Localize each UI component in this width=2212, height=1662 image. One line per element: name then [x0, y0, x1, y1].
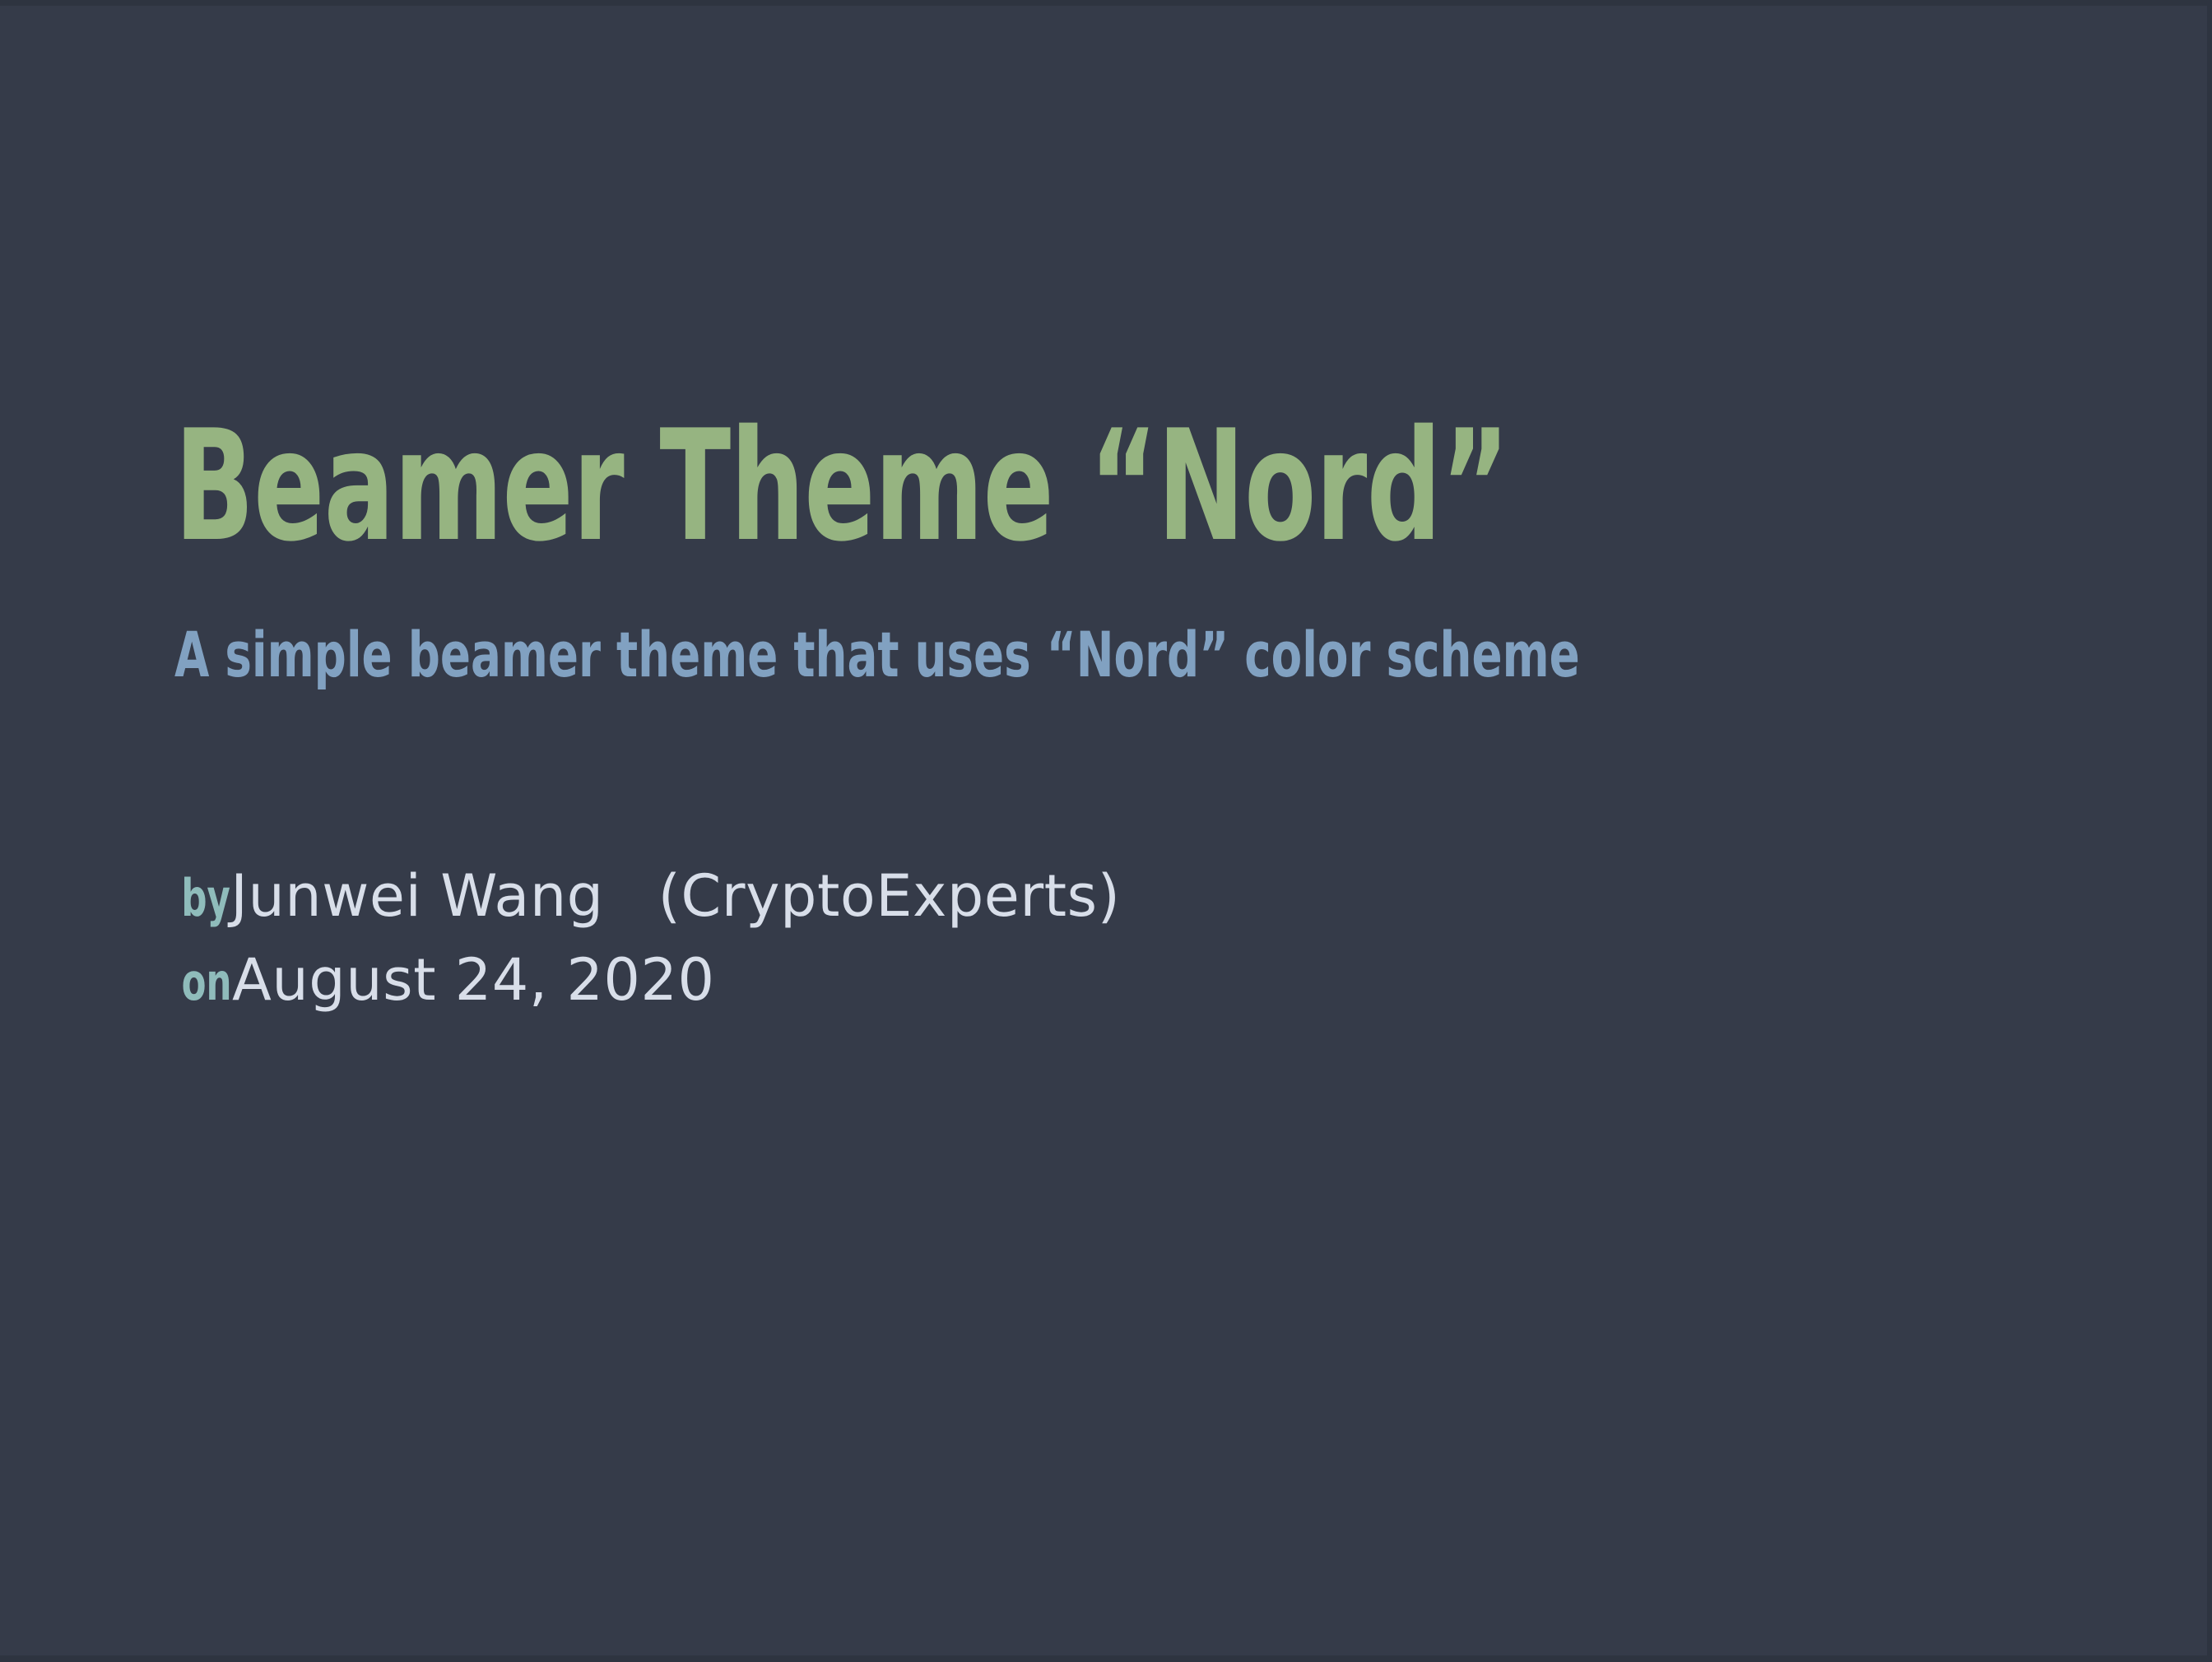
slide-right-border: [2207, 0, 2212, 1662]
slide-title: Beamer Theme “Nord”: [174, 410, 1509, 563]
author-name: Junwei Wang: [230, 862, 603, 930]
author-keyword: by: [181, 857, 230, 940]
slide-top-border: [0, 0, 2212, 6]
date-value: August 24, 2020: [232, 946, 714, 1014]
title-slide: Beamer Theme “Nord” A simple beamer them…: [0, 0, 2212, 1662]
author-date-block: byJunwei Wang(CryptoExperts) onAugust 24…: [174, 854, 1120, 1022]
author-line: byJunwei Wang(CryptoExperts): [174, 854, 1120, 938]
slide-bottom-border: [0, 1655, 2212, 1662]
date-keyword: on: [182, 940, 232, 1024]
date-line: onAugust 24, 2020: [174, 938, 1120, 1022]
author-affiliation: (CryptoExperts): [658, 862, 1121, 930]
slide-subtitle: A simple beamer theme that uses “Nord” c…: [174, 624, 1580, 686]
